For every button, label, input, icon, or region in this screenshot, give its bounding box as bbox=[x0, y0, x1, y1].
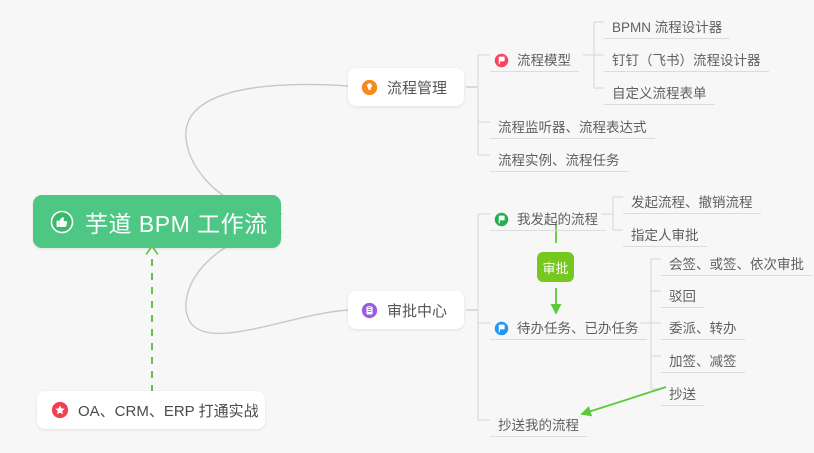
node-custom-process-form[interactable]: 自定义流程表单 bbox=[604, 75, 715, 105]
footer-card-label: OA、CRM、ERP 打通实战 bbox=[78, 400, 259, 421]
node-label: BPMN 流程设计器 bbox=[612, 21, 722, 35]
flag-blue-icon bbox=[494, 321, 509, 336]
node-label: 加签、减签 bbox=[669, 355, 737, 369]
node-label: 钉钉（飞书）流程设计器 bbox=[612, 54, 761, 68]
node-my-initiated[interactable]: 我发起的流程 bbox=[490, 201, 606, 231]
node-cc[interactable]: 抄送 bbox=[661, 376, 704, 406]
node-instance-task[interactable]: 流程实例、流程任务 bbox=[490, 142, 628, 172]
doc-icon bbox=[361, 302, 378, 319]
node-label: 指定人审批 bbox=[631, 229, 699, 243]
node-label: 流程模型 bbox=[517, 54, 571, 68]
node-label: 流程监听器、流程表达式 bbox=[498, 121, 647, 135]
thumbs-up-icon bbox=[50, 210, 74, 234]
node-label: 流程管理 bbox=[387, 77, 447, 98]
node-add-remove-sign[interactable]: 加签、减签 bbox=[661, 343, 745, 373]
mindmap-canvas: 芋道 BPM 工作流 流程管理 流程模型 BPMN 流程设计器 钉钉（飞书）流程… bbox=[0, 0, 814, 453]
node-process-model[interactable]: 流程模型 bbox=[490, 42, 579, 72]
node-label: 抄送我的流程 bbox=[498, 419, 579, 433]
node-delegate-transfer[interactable]: 委派、转办 bbox=[661, 310, 745, 340]
node-dingtalk-feishu-designer[interactable]: 钉钉（飞书）流程设计器 bbox=[604, 42, 769, 72]
node-assignee-approve[interactable]: 指定人审批 bbox=[623, 217, 707, 247]
node-label: 自定义流程表单 bbox=[612, 87, 707, 101]
node-label: 抄送 bbox=[669, 388, 696, 402]
node-todo-done[interactable]: 待办任务、已办任务 bbox=[490, 310, 647, 340]
node-reject[interactable]: 驳回 bbox=[661, 278, 704, 308]
root-node[interactable]: 芋道 BPM 工作流 bbox=[33, 195, 281, 248]
node-label: 发起流程、撤销流程 bbox=[631, 196, 753, 210]
node-label: 流程实例、流程任务 bbox=[498, 154, 620, 168]
node-approval-center[interactable]: 审批中心 bbox=[348, 291, 464, 329]
approval-badge: 审批 bbox=[537, 252, 574, 282]
root-label: 芋道 BPM 工作流 bbox=[85, 205, 268, 239]
node-label: 待办任务、已办任务 bbox=[517, 322, 639, 336]
node-label: 审批中心 bbox=[387, 300, 447, 321]
flag-red-icon bbox=[494, 53, 509, 68]
pin-icon bbox=[361, 79, 378, 96]
footer-card[interactable]: OA、CRM、ERP 打通实战 bbox=[37, 391, 265, 429]
node-label: 驳回 bbox=[669, 290, 696, 304]
node-listener-expression[interactable]: 流程监听器、流程表达式 bbox=[490, 109, 655, 139]
node-bpmn-designer[interactable]: BPMN 流程设计器 bbox=[604, 9, 730, 39]
node-multi-sign[interactable]: 会签、或签、依次审批 bbox=[661, 246, 812, 276]
star-icon bbox=[51, 401, 69, 419]
arrow-cc-to-my-cc bbox=[582, 387, 666, 414]
node-cc-to-me[interactable]: 抄送我的流程 bbox=[490, 407, 587, 437]
flag-green-icon bbox=[494, 212, 509, 227]
node-label: 委派、转办 bbox=[669, 322, 737, 336]
node-label: 我发起的流程 bbox=[517, 213, 598, 227]
node-start-cancel[interactable]: 发起流程、撤销流程 bbox=[623, 184, 761, 214]
node-label: 会签、或签、依次审批 bbox=[669, 258, 804, 272]
approval-badge-label: 审批 bbox=[542, 258, 568, 277]
node-process-management[interactable]: 流程管理 bbox=[348, 68, 464, 106]
